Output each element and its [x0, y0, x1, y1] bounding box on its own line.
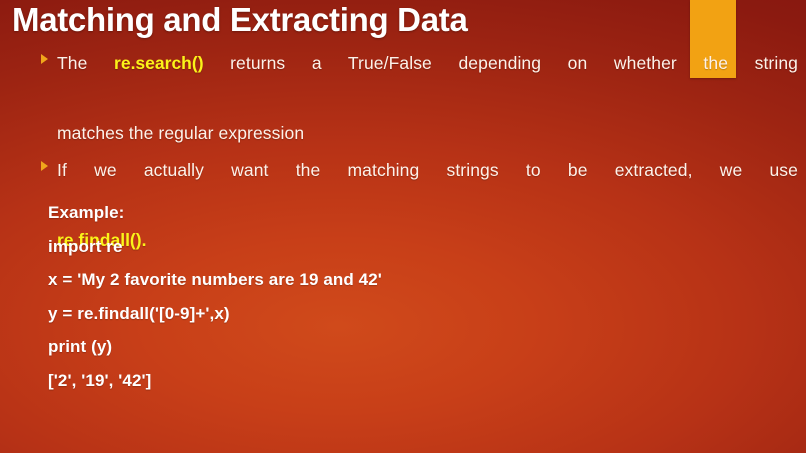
- bullet-1-prefix: The: [57, 53, 114, 73]
- bullet-1-suffix: returns a True/False depending on whethe…: [204, 53, 798, 73]
- code-line-2: x = 'My 2 favorite numbers are 19 and 42…: [48, 263, 788, 297]
- code-output-line: ['2', '19', '42']: [48, 364, 788, 398]
- code-example-block: Example: import re x = 'My 2 favorite nu…: [48, 196, 788, 397]
- triangle-bullet-icon: [41, 161, 48, 171]
- code-line-1: import re: [48, 230, 788, 264]
- slide-canvas: Matching and Extracting Data The re.sear…: [0, 0, 806, 453]
- bullet-item-1: The re.search() returns a True/False dep…: [38, 46, 798, 151]
- page-title: Matching and Extracting Data: [12, 0, 712, 42]
- bullet-1-line-2: matches the regular expression: [57, 116, 798, 151]
- bullet-item-1-text: The re.search() returns a True/False dep…: [57, 46, 798, 151]
- code-line-4: print (y): [48, 330, 788, 364]
- code-label: Example:: [48, 196, 788, 230]
- code-line-3: y = re.findall('[0-9]+',x): [48, 297, 788, 331]
- triangle-bullet-icon: [41, 54, 48, 64]
- bullet-1-line-1: The re.search() returns a True/False dep…: [57, 46, 798, 116]
- bullet-1-keyword: re.search(): [114, 53, 204, 73]
